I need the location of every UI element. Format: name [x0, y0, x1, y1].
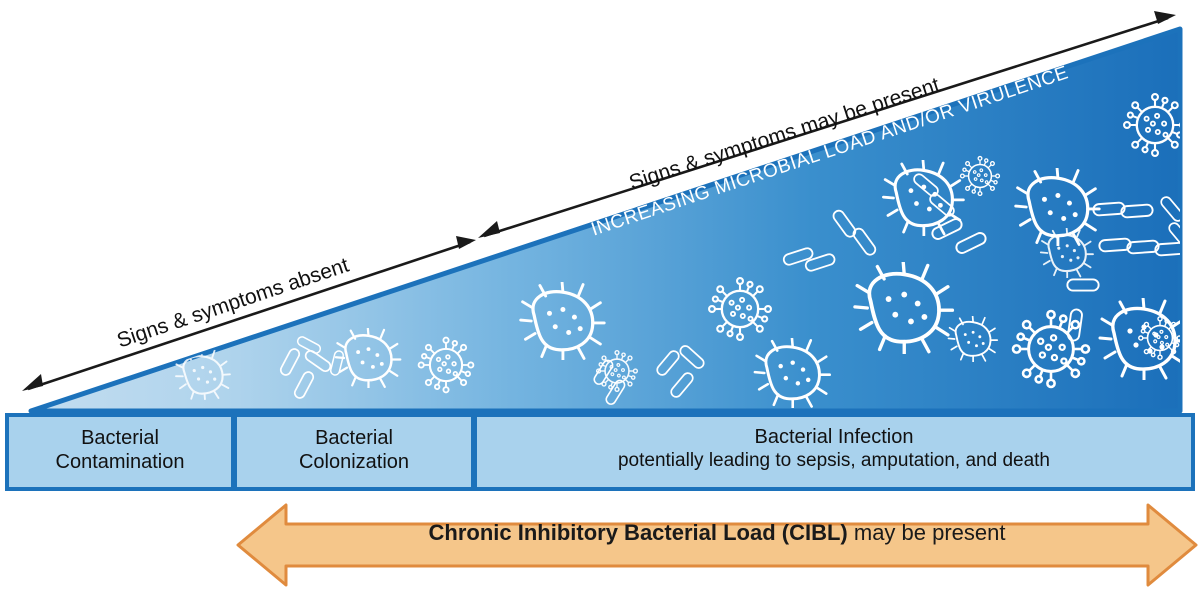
stage-label-colonization-line1: Bacterial	[237, 427, 471, 451]
stage-label-contamination-line2: Contamination	[9, 451, 231, 475]
stage-label-colonization: Bacterial Colonization	[237, 427, 471, 474]
cibl-banner-label: Chronic Inhibitory Bacterial Load (CIBL)…	[238, 520, 1196, 546]
diagram-canvas: Signs & symptoms absent Signs & symptoms…	[0, 0, 1200, 593]
stage-label-infection: Bacterial Infection potentially leading …	[477, 426, 1191, 472]
cibl-bold-text: Chronic Inhibitory Bacterial Load (CIBL)	[429, 520, 848, 545]
stage-label-contamination: Bacterial Contamination	[9, 427, 231, 474]
stage-label-infection-line2: potentially leading to sepsis, amputatio…	[477, 450, 1191, 472]
stage-label-infection-line1: Bacterial Infection	[477, 426, 1191, 450]
cibl-rest-text: may be present	[848, 520, 1006, 545]
stage-label-colonization-line2: Colonization	[237, 451, 471, 475]
stage-label-contamination-line1: Bacterial	[9, 427, 231, 451]
